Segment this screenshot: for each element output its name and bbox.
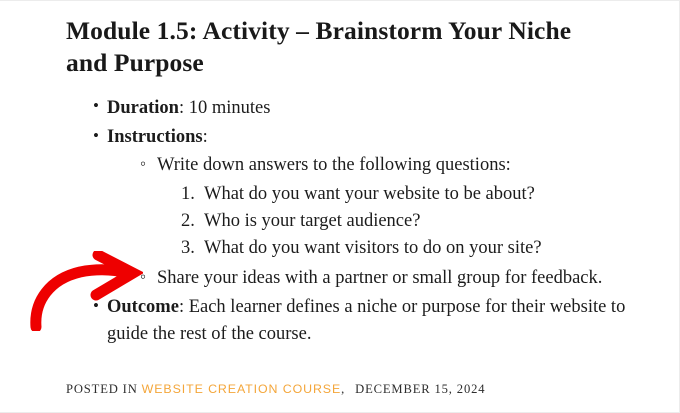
sub-item-share-ideas: Share your ideas with a partner or small… — [140, 265, 639, 292]
question-text: What do you want your website to be abou… — [204, 184, 535, 204]
outcome-label: Outcome — [107, 297, 179, 317]
duration-value: 10 minutes — [189, 98, 271, 118]
sub-item-write-down: Write down answers to the following ques… — [140, 152, 639, 262]
question-text: Who is your target audience? — [204, 211, 420, 231]
questions-list: What do you want your website to be abou… — [157, 181, 639, 263]
sub-item-share-ideas-text: Share your ideas with a partner or small… — [157, 265, 639, 292]
question-item: Who is your target audience? — [181, 208, 639, 235]
meta-separator: , — [341, 382, 345, 396]
sub-item-write-down-text: Write down answers to the following ques… — [157, 152, 639, 179]
duration-separator: : — [179, 98, 189, 118]
question-text: What do you want visitors to do on your … — [204, 238, 542, 258]
activity-list: Duration: 10 minutes Instructions: Write… — [66, 95, 639, 347]
list-item-outcome: Outcome: Each learner defines a niche or… — [93, 294, 639, 347]
duration-label: Duration — [107, 98, 179, 118]
page-title: Module 1.5: Activity – Brainstorm Your N… — [66, 15, 614, 79]
instructions-separator: : — [203, 127, 208, 147]
list-item-instructions: Instructions: Write down answers to the … — [93, 124, 639, 291]
posted-in-label: Posted in — [66, 382, 138, 396]
blog-post-page: Module 1.5: Activity – Brainstorm Your N… — [0, 0, 680, 413]
post-content: Module 1.5: Activity – Brainstorm Your N… — [66, 15, 639, 350]
instructions-label: Instructions — [107, 127, 203, 147]
list-item-duration: Duration: 10 minutes — [93, 95, 639, 121]
question-item: What do you want visitors to do on your … — [181, 235, 639, 262]
instructions-sublist: Write down answers to the following ques… — [107, 152, 639, 291]
entry-meta: Posted in Website Creation Course, Decem… — [66, 382, 485, 397]
outcome-separator: : — [179, 297, 189, 317]
question-item: What do you want your website to be abou… — [181, 181, 639, 208]
post-date: December 15, 2024 — [355, 382, 485, 396]
category-link[interactable]: Website Creation Course — [142, 382, 341, 396]
